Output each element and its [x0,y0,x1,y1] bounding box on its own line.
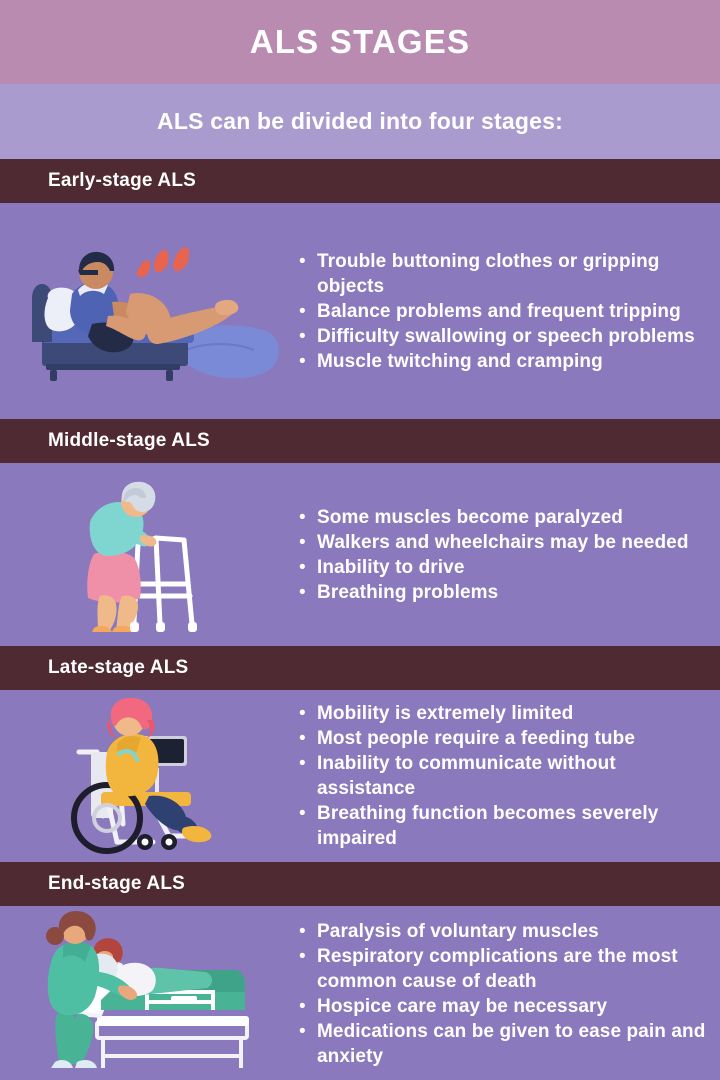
list-item: • Some muscles become paralyzed [299,505,710,530]
bullet-icon: • [299,994,317,1019]
stage-header-early: Early-stage ALS [0,159,720,203]
bullet-list-middle: • Some muscles become paralyzed • Walker… [299,505,714,605]
list-item: • Breathing function becomes severely im… [299,801,710,851]
bullet-text: Medications can be given to ease pain an… [317,1019,710,1069]
list-item: • Paralysis of voluntary muscles [299,919,710,944]
bullet-icon: • [299,349,317,374]
bullet-text: Trouble buttoning clothes or gripping ob… [317,249,710,299]
list-item: • Breathing problems [299,580,710,605]
header-title-bar: ALS STAGES [0,0,720,84]
list-item: • Inability to communicate without assis… [299,751,710,801]
infographic-page: ALS STAGES ALS can be divided into four … [0,0,720,1080]
bullet-text: Muscle twitching and cramping [317,349,603,374]
bullet-text: Breathing function becomes severely impa… [317,801,710,851]
bullet-list-late: • Mobility is extremely limited • Most p… [299,701,714,851]
bullet-icon: • [299,580,317,605]
stage-body-late: • Mobility is extremely limited • Most p… [0,690,720,862]
bullet-text: Paralysis of voluntary muscles [317,919,599,944]
bullet-icon: • [299,944,317,969]
list-item: • Mobility is extremely limited [299,701,710,726]
stage-title-late: Late-stage ALS [48,657,188,679]
bullet-text: Difficulty swallowing or speech problems [317,324,695,349]
stage-title-early: Early-stage ALS [48,170,196,192]
stage-header-late: Late-stage ALS [0,646,720,690]
header-subtitle-bar: ALS can be divided into four stages: [0,84,720,159]
bullet-icon: • [299,324,317,349]
bullet-icon: • [299,751,317,776]
bullet-list-early: • Trouble buttoning clothes or gripping … [299,249,714,374]
bullet-icon: • [299,530,317,555]
list-item: • Muscle twitching and cramping [299,349,710,374]
list-item: • Hospice care may be necessary [299,994,710,1019]
bullet-text: Hospice care may be necessary [317,994,607,1019]
bullet-text: Most people require a feeding tube [317,726,635,751]
bullet-text: Inability to drive [317,555,465,580]
bullet-icon: • [299,555,317,580]
bullet-icon: • [299,726,317,751]
bullet-text: Inability to communicate without assista… [317,751,710,801]
bullet-icon: • [299,1019,317,1044]
stage-body-early: • Trouble buttoning clothes or gripping … [0,203,720,419]
list-item: • Walkers and wheelchairs may be needed [299,530,710,555]
list-item: • Trouble buttoning clothes or gripping … [299,249,710,299]
stage-title-middle: Middle-stage ALS [48,430,210,452]
bullet-text: Walkers and wheelchairs may be needed [317,530,689,555]
page-subtitle: ALS can be divided into four stages: [157,108,563,135]
list-item: • Medications can be given to ease pain … [299,1019,710,1069]
illustration-person-in-wheelchair [14,690,299,862]
bullet-icon: • [299,505,317,530]
page-title: ALS STAGES [250,23,470,61]
bullet-text: Some muscles become paralyzed [317,505,623,530]
illustration-woman-with-walker [14,463,299,646]
list-item: • Respiratory complications are the most… [299,944,710,994]
bullet-list-end: • Paralysis of voluntary muscles • Respi… [299,919,714,1069]
stage-title-end: End-stage ALS [48,873,185,895]
bullet-icon: • [299,919,317,944]
bullet-text: Breathing problems [317,580,498,605]
bullet-text: Respiratory complications are the most c… [317,944,710,994]
bullet-icon: • [299,801,317,826]
stage-body-end: • Paralysis of voluntary muscles • Respi… [0,906,720,1080]
illustration-person-on-bed [14,203,299,419]
stage-header-middle: Middle-stage ALS [0,419,720,463]
stage-header-end: End-stage ALS [0,862,720,906]
bullet-icon: • [299,249,317,274]
illustration-nurse-with-hospital-bed [14,906,299,1080]
bullet-text: Balance problems and frequent tripping [317,299,681,324]
list-item: • Inability to drive [299,555,710,580]
stage-body-middle: • Some muscles become paralyzed • Walker… [0,463,720,646]
bullet-icon: • [299,299,317,324]
bullet-text: Mobility is extremely limited [317,701,573,726]
list-item: • Difficulty swallowing or speech proble… [299,324,710,349]
list-item: • Balance problems and frequent tripping [299,299,710,324]
list-item: • Most people require a feeding tube [299,726,710,751]
bullet-icon: • [299,701,317,726]
